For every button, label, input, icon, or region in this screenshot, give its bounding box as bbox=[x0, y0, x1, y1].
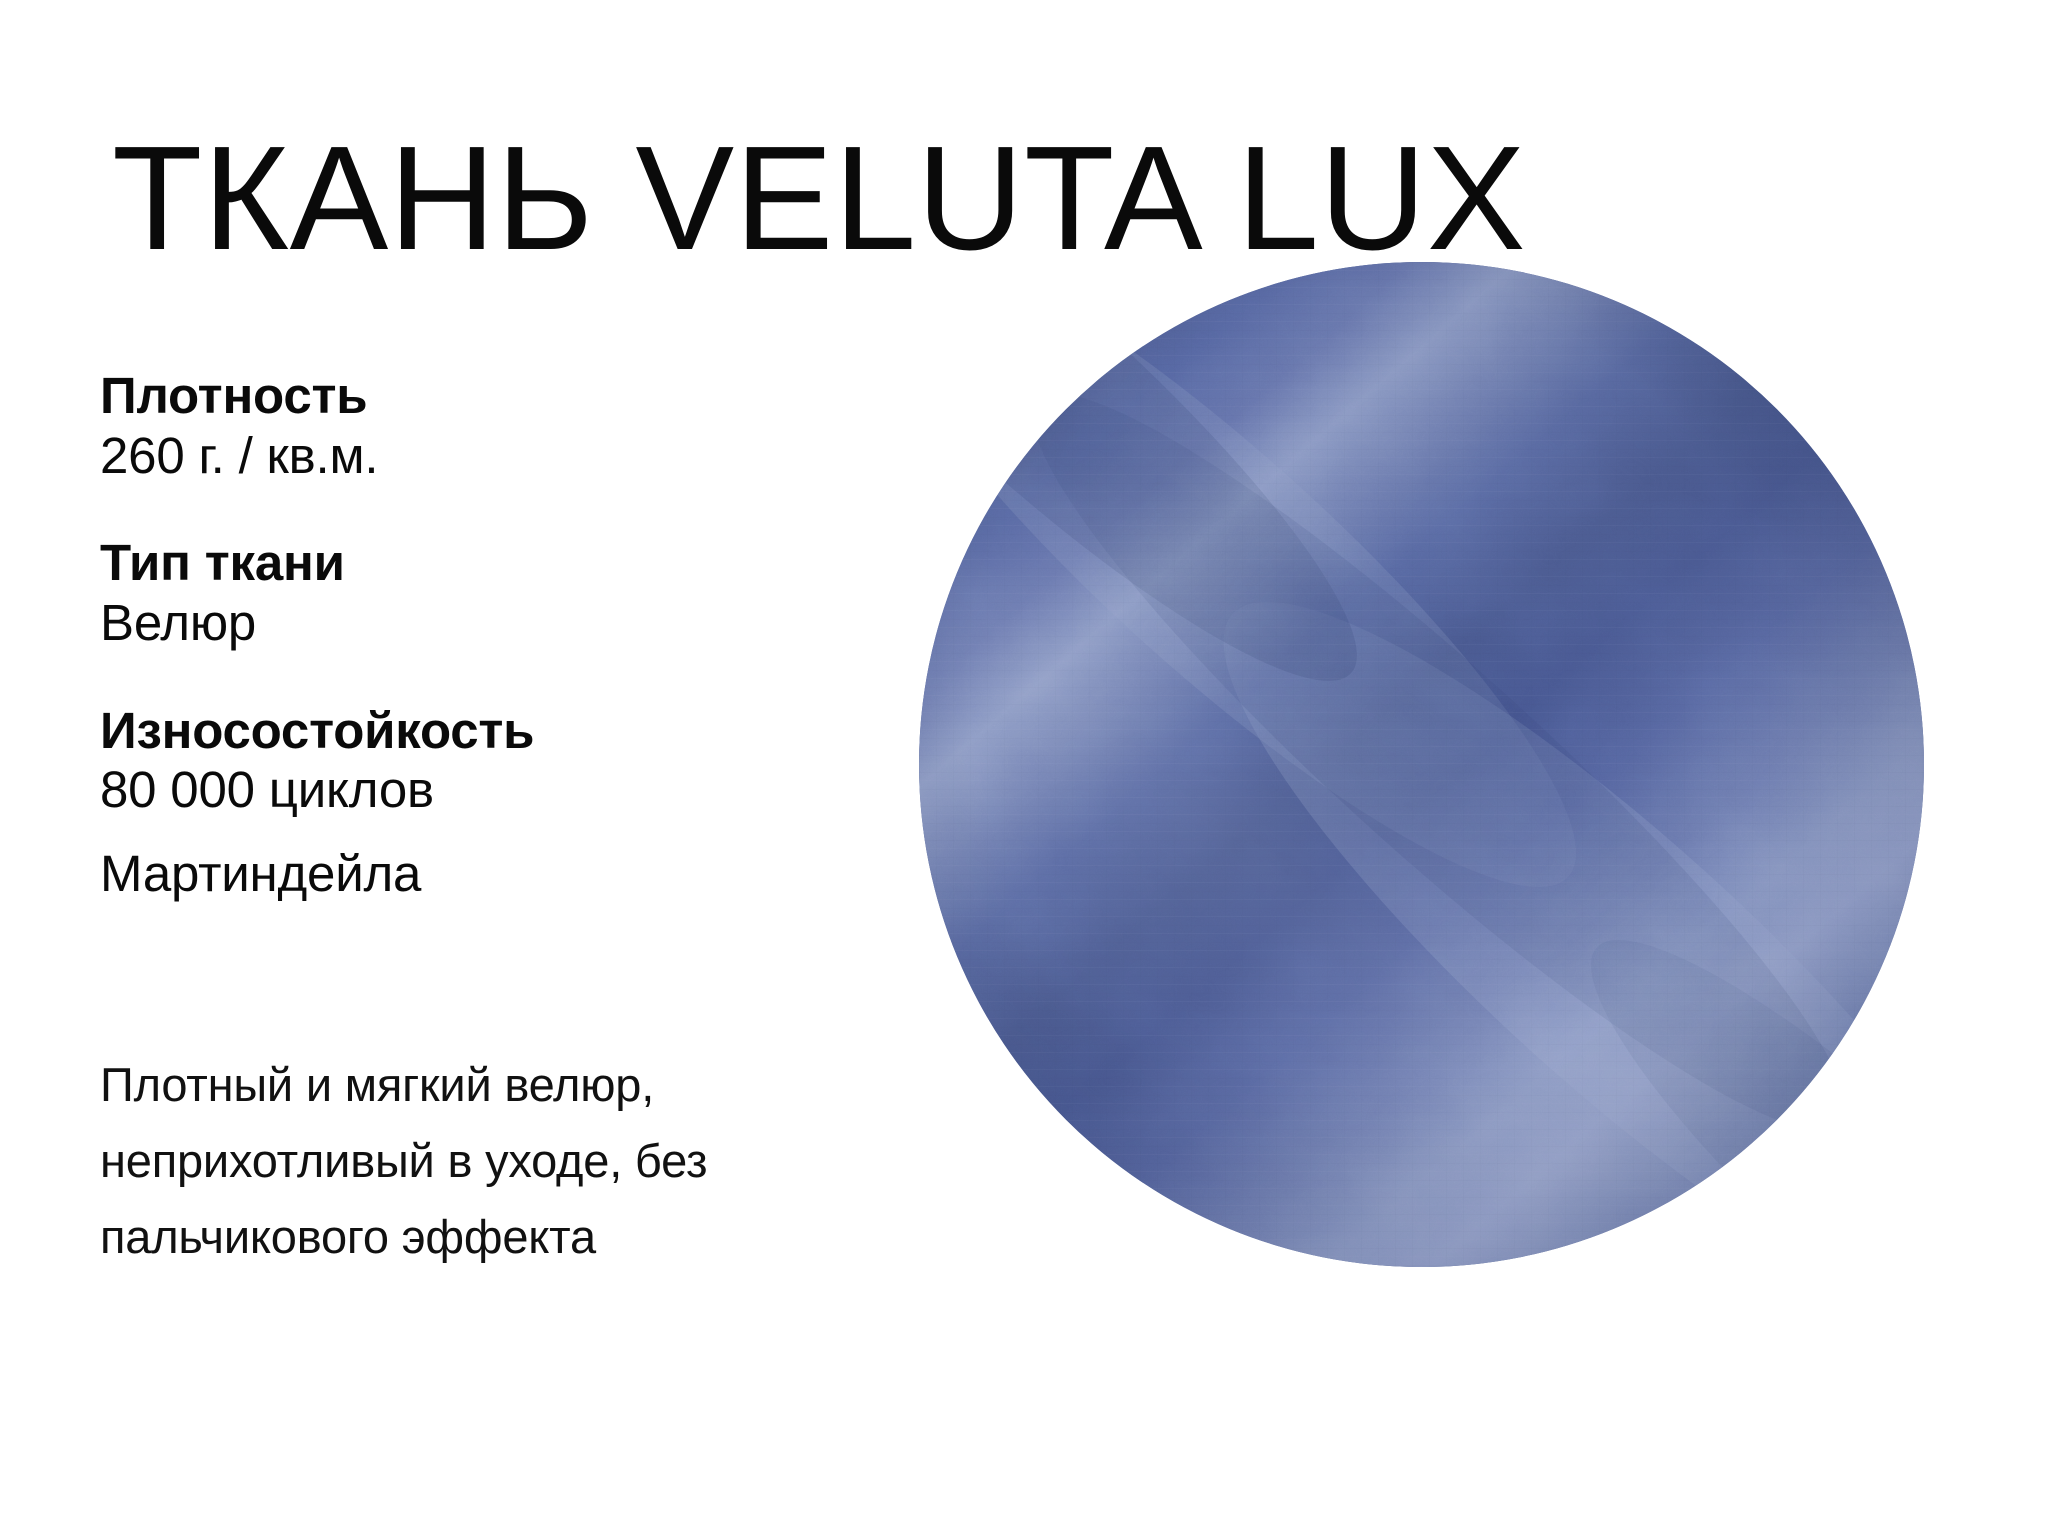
fabric-spec-card: ТКАНЬ VELUTA LUX Плотность 260 г. / кв.м… bbox=[0, 0, 2048, 1536]
spec-value-fabric-type: Велюр bbox=[100, 593, 900, 653]
fabric-swatch-circle bbox=[919, 262, 1924, 1267]
spec-item-fabric-type: Тип ткани Велюр bbox=[100, 533, 900, 652]
spec-item-density: Плотность 260 г. / кв.м. bbox=[100, 366, 900, 485]
spec-value-density: 260 г. / кв.м. bbox=[100, 426, 900, 486]
velvet-texture-image bbox=[919, 262, 1924, 1267]
page-title: ТКАНЬ VELUTA LUX bbox=[112, 121, 1526, 278]
fabric-description: Плотный и мягкий велюр, неприхотливый в … bbox=[100, 1047, 980, 1275]
spec-item-durability: Износостойкость 80 000 циклов Мартиндейл… bbox=[100, 701, 900, 904]
spec-value-durability-cycles: 80 000 циклов bbox=[100, 760, 900, 820]
spec-label-durability: Износостойкость bbox=[100, 701, 900, 761]
spec-value-durability-standard: Мартиндейла bbox=[100, 844, 900, 904]
spec-list: Плотность 260 г. / кв.м. Тип ткани Велюр… bbox=[100, 366, 900, 962]
spec-label-density: Плотность bbox=[100, 366, 900, 426]
spec-label-fabric-type: Тип ткани bbox=[100, 533, 900, 593]
